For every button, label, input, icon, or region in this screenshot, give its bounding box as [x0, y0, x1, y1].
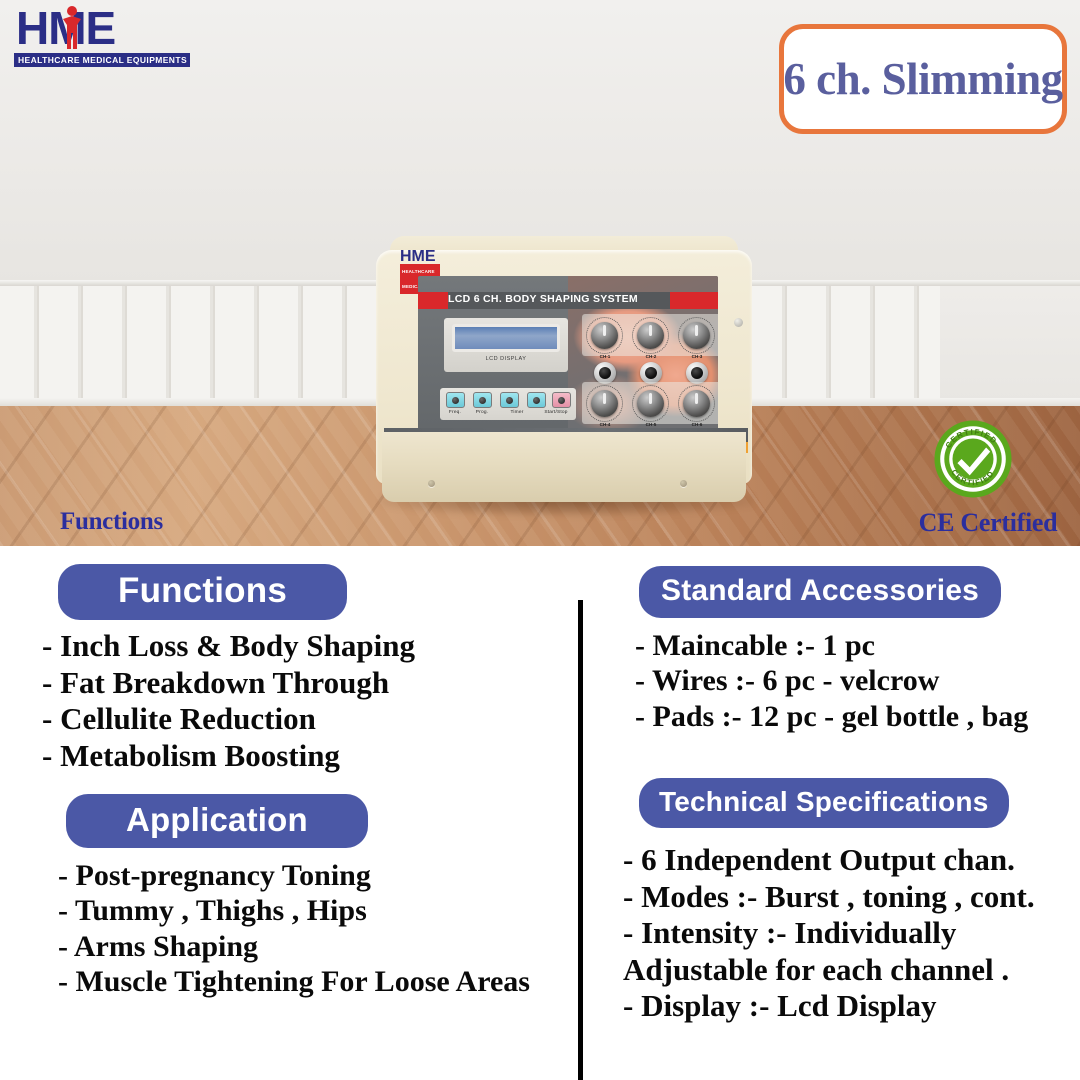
accessories-list: - Maincable :- 1 pc - Wires :- 6 pc - ve…: [635, 628, 1028, 734]
start-stop-dot: [558, 397, 565, 404]
poster-root: HME HEALTHCARE MEDICAL EQUIPMENTS 6 ch. …: [0, 0, 1080, 1080]
device-front-bevel: [382, 432, 746, 502]
ch1-knob[interactable]: [591, 322, 618, 349]
specifications-item-1: - 6 Independent Output chan.: [623, 842, 1035, 879]
ch6-knob[interactable]: [683, 390, 710, 417]
panel-title-bar: LCD 6 CH. BODY SHAPING SYSTEM: [418, 292, 718, 309]
output-jack-2[interactable]: [640, 362, 662, 384]
lcd-display-label: LCD DISPLAY: [444, 356, 568, 362]
logo-letters: HME: [14, 6, 149, 50]
start-stop-button[interactable]: [552, 392, 571, 408]
panel-title-text: LCD 6 CH. BODY SHAPING SYSTEM: [448, 293, 638, 305]
start-stop-label: Start/Stop: [539, 410, 573, 415]
button-plate: Freq. Prog. Timer Start/Stop: [440, 388, 576, 420]
specifications-item-3: - Intensity :- Individually: [623, 915, 1035, 952]
logo-person-icon: [61, 5, 83, 49]
ch2-knob[interactable]: [637, 322, 664, 349]
certified-stamp-icon: CERTIFIED CERTIFIED: [932, 418, 1014, 500]
timer-button-label: Timer: [500, 410, 534, 415]
specifications-heading: Technical Specifications: [639, 778, 1009, 828]
extra-button[interactable]: [527, 392, 546, 408]
accessories-item-3: - Pads :- 12 pc - gel bottle , bag: [635, 699, 1028, 734]
prog-button[interactable]: [473, 392, 492, 408]
power-indicator: [734, 318, 743, 327]
accessories-item-2: - Wires :- 6 pc - velcrow: [635, 663, 1028, 698]
application-item-2: - Tummy , Thighs , Hips: [58, 893, 530, 928]
right-column: Standard Accessories - Maincable :- 1 pc…: [583, 546, 1080, 1080]
ch6-label: CH-6: [682, 422, 712, 427]
company-logo: HME HEALTHCARE MEDICAL EQUIPMENTS: [14, 6, 149, 68]
freq-button[interactable]: [446, 392, 465, 408]
functions-item-3: - Cellulite Reduction: [42, 701, 415, 738]
functions-item-2: - Fat Breakdown Through: [42, 665, 415, 702]
specifications-item-5: - Display :- Lcd Display: [623, 988, 1035, 1025]
application-item-3: - Arms Shaping: [58, 929, 530, 964]
front-screw-left: [428, 480, 435, 487]
ch4-label: CH-4: [590, 422, 620, 427]
output-jack-3[interactable]: [686, 362, 708, 384]
functions-item-1: - Inch Loss & Body Shaping: [42, 628, 415, 665]
application-list: - Post-pregnancy Toning - Tummy , Thighs…: [58, 858, 530, 1000]
timer-button[interactable]: [500, 392, 519, 408]
front-screw-right: [680, 480, 687, 487]
ch3-label: CH-3: [682, 354, 712, 359]
left-column: Functions - Inch Loss & Body Shaping - F…: [0, 546, 578, 1080]
ch1-label: CH-1: [590, 354, 620, 359]
photo-functions-label: Functions: [60, 508, 310, 536]
device-body: HME HEALTHCARE MEDICAL LCD 6 CH. BODY SH…: [374, 236, 754, 512]
device-unit: HME HEALTHCARE MEDICAL LCD 6 CH. BODY SH…: [374, 236, 754, 524]
accessories-heading: Standard Accessories: [639, 566, 1001, 618]
lcd-screen: [452, 324, 560, 352]
freq-button-dot: [452, 397, 459, 404]
product-photo-banner: HME HEALTHCARE MEDICAL EQUIPMENTS 6 ch. …: [0, 0, 1080, 546]
ch2-label: CH-2: [636, 354, 666, 359]
functions-list: - Inch Loss & Body Shaping - Fat Breakdo…: [42, 628, 415, 774]
device-logo-text: HME: [400, 248, 436, 265]
specifications-item-4: Adjustable for each channel .: [623, 952, 1035, 989]
ch3-knob[interactable]: [683, 322, 710, 349]
functions-item-4: - Metabolism Boosting: [42, 738, 415, 775]
prog-button-dot: [479, 397, 486, 404]
title-badge-text: 6 ch. Slimming: [783, 53, 1062, 105]
wall-plain-right: [940, 286, 1080, 408]
specifications-item-2: - Modes :- Burst , toning , cont.: [623, 879, 1035, 916]
info-section: Functions - Inch Loss & Body Shaping - F…: [0, 546, 1080, 1080]
timer-button-dot: [506, 397, 513, 404]
accessories-item-1: - Maincable :- 1 pc: [635, 628, 1028, 663]
output-jack-1[interactable]: [594, 362, 616, 384]
ch4-knob[interactable]: [591, 390, 618, 417]
extra-button-dot: [533, 397, 540, 404]
device-control-panel: LCD 6 CH. BODY SHAPING SYSTEM LCD DISPLA…: [418, 276, 718, 436]
title-badge: 6 ch. Slimming: [779, 24, 1067, 134]
ch5-label: CH-5: [636, 422, 666, 427]
photo-ce-certified-label: CE Certified: [898, 508, 1078, 538]
application-heading: Application: [66, 794, 368, 848]
prog-button-label: Prog.: [465, 410, 499, 415]
lcd-plate: LCD DISPLAY: [444, 318, 568, 372]
specifications-list: - 6 Independent Output chan. - Modes :- …: [623, 842, 1035, 1025]
functions-heading: Functions: [58, 564, 347, 620]
logo-tagline: HEALTHCARE MEDICAL EQUIPMENTS: [14, 53, 190, 67]
application-item-1: - Post-pregnancy Toning: [58, 858, 530, 893]
application-item-4: - Muscle Tightening For Loose Areas: [58, 964, 530, 999]
ch5-knob[interactable]: [637, 390, 664, 417]
